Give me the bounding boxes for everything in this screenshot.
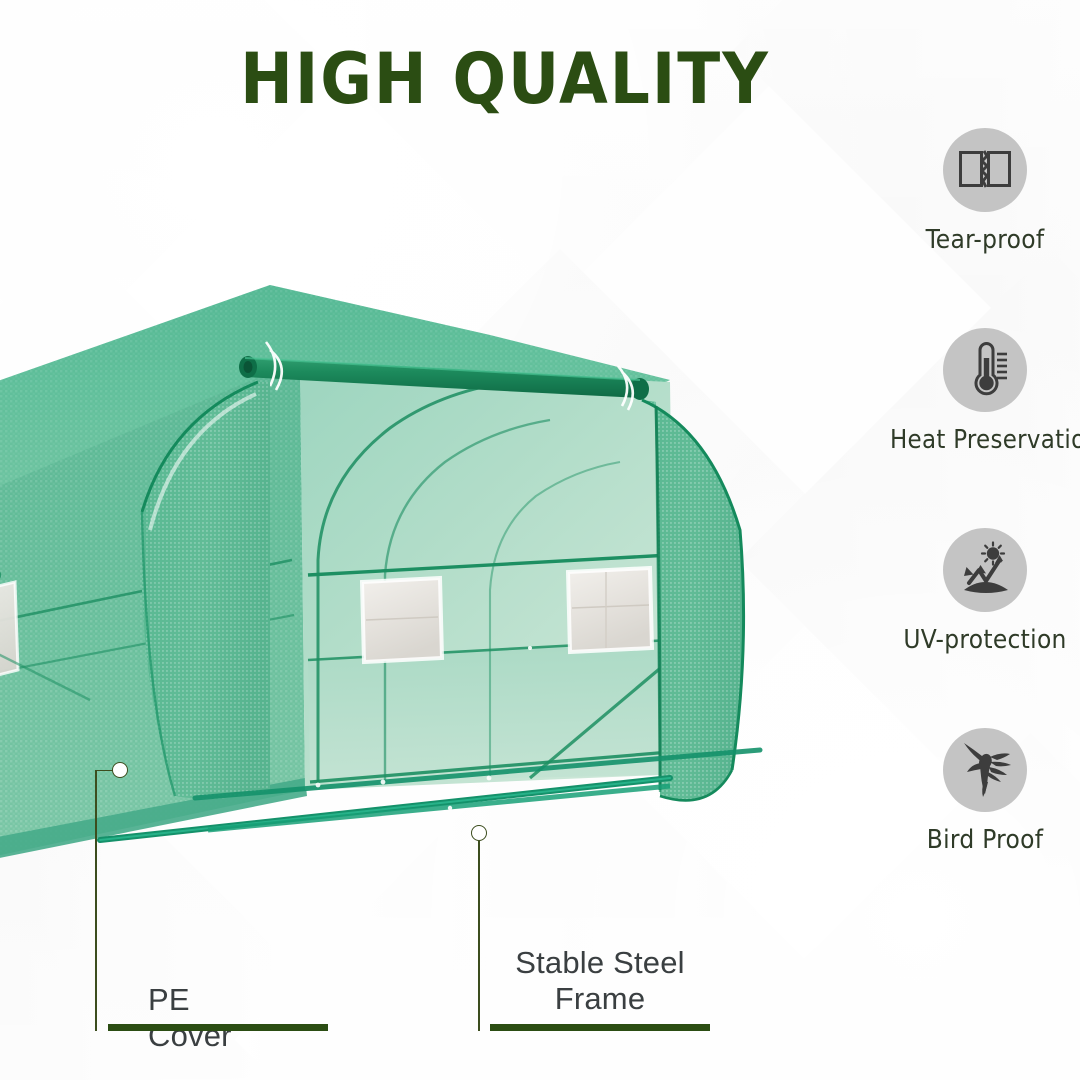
feature-label: Tear-proof bbox=[890, 225, 1080, 255]
callout-anchor-dot bbox=[112, 762, 128, 778]
torn-fabric-icon-circle bbox=[943, 128, 1027, 212]
feature-bird-proof: Bird Proof bbox=[890, 728, 1080, 855]
thermometer-icon-circle bbox=[943, 328, 1027, 412]
interior-window-left bbox=[362, 578, 442, 662]
flying-bird-icon bbox=[954, 741, 1016, 799]
thermometer-icon bbox=[958, 342, 1012, 398]
callout-underline bbox=[108, 1024, 328, 1031]
callout-leader-v bbox=[95, 770, 97, 1031]
uv-sun-rays-icon bbox=[953, 541, 1017, 599]
uv-sun-rays-icon-circle bbox=[943, 528, 1027, 612]
callout-label: Stable Steel Frame bbox=[500, 945, 700, 1017]
feature-label: Bird Proof bbox=[890, 825, 1080, 855]
torn-fabric-icon bbox=[957, 144, 1013, 196]
interior-window-right bbox=[568, 568, 652, 652]
callout-label-line: Frame bbox=[500, 981, 700, 1017]
product-image bbox=[0, 230, 850, 890]
flying-bird-icon-circle bbox=[943, 728, 1027, 812]
feature-uv-protection: UV-protection bbox=[890, 528, 1080, 655]
callout-label-line: Stable Steel bbox=[500, 945, 700, 981]
callout-label-line: PE Cover bbox=[148, 982, 232, 1053]
greenhouse-illustration bbox=[0, 230, 850, 890]
callout-anchor-dot bbox=[471, 825, 487, 841]
feature-label: UV-protection bbox=[890, 625, 1080, 655]
callout-label: PE Cover bbox=[148, 982, 232, 1054]
feature-tear-proof: Tear-proof bbox=[890, 128, 1080, 255]
page-title: HIGH QUALITY bbox=[0, 44, 1010, 114]
infographic-canvas: HIGH QUALITY bbox=[0, 0, 1080, 1080]
feature-label: Heat Preservation bbox=[890, 425, 1080, 455]
feature-heat-preservation: Heat Preservation bbox=[890, 328, 1080, 455]
callout-leader-v bbox=[478, 841, 480, 1031]
callout-underline bbox=[490, 1024, 710, 1031]
